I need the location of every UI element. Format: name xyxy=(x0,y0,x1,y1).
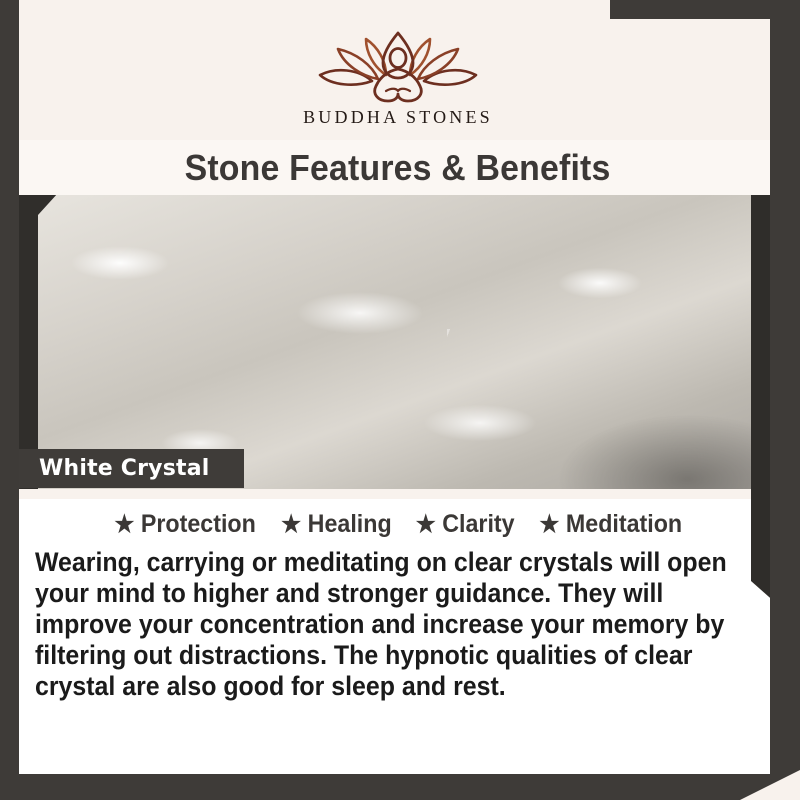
photo-caption-label: White Crystal xyxy=(39,456,210,481)
brand-header: BUDDHA STONES xyxy=(19,19,777,144)
frame-left-edge xyxy=(0,0,19,800)
benefit-label: Clarity xyxy=(442,510,514,539)
star-icon: ★ xyxy=(281,513,301,537)
lotus-meditation-icon xyxy=(314,31,482,105)
photo-shadow-region xyxy=(447,329,777,489)
benefit-item: ★ Clarity xyxy=(415,510,514,539)
benefit-label: Meditation xyxy=(566,510,682,539)
stone-benefits-poster: BUDDHA STONES Stone Features & Benefits … xyxy=(0,0,800,800)
frame-top-right-edge xyxy=(610,0,800,19)
frame-bottom-edge xyxy=(0,774,800,800)
title-band: Stone Features & Benefits xyxy=(19,140,777,195)
content-panel: ★ Protection ★ Healing ★ Clarity ★ Medit… xyxy=(19,499,777,777)
white-crystal-cluster-photo xyxy=(0,193,777,489)
page-title: Stone Features & Benefits xyxy=(185,147,611,189)
brand-name: BUDDHA STONES xyxy=(303,107,493,128)
photo-caption-bar: White Crystal xyxy=(19,449,244,488)
benefit-label: Healing xyxy=(307,510,391,539)
benefit-label: Protection xyxy=(140,510,255,539)
star-icon: ★ xyxy=(114,513,134,537)
frame-right-edge xyxy=(770,0,800,800)
description-text: Wearing, carrying or meditating on clear… xyxy=(35,547,748,702)
star-icon: ★ xyxy=(415,513,435,537)
benefits-row: ★ Protection ★ Healing ★ Clarity ★ Medit… xyxy=(19,499,777,539)
star-icon: ★ xyxy=(539,513,559,537)
benefit-item: ★ Healing xyxy=(281,510,391,539)
benefit-item: ★ Meditation xyxy=(539,510,682,539)
benefit-item: ★ Protection xyxy=(114,510,255,539)
crystal-photo-block xyxy=(0,193,777,489)
